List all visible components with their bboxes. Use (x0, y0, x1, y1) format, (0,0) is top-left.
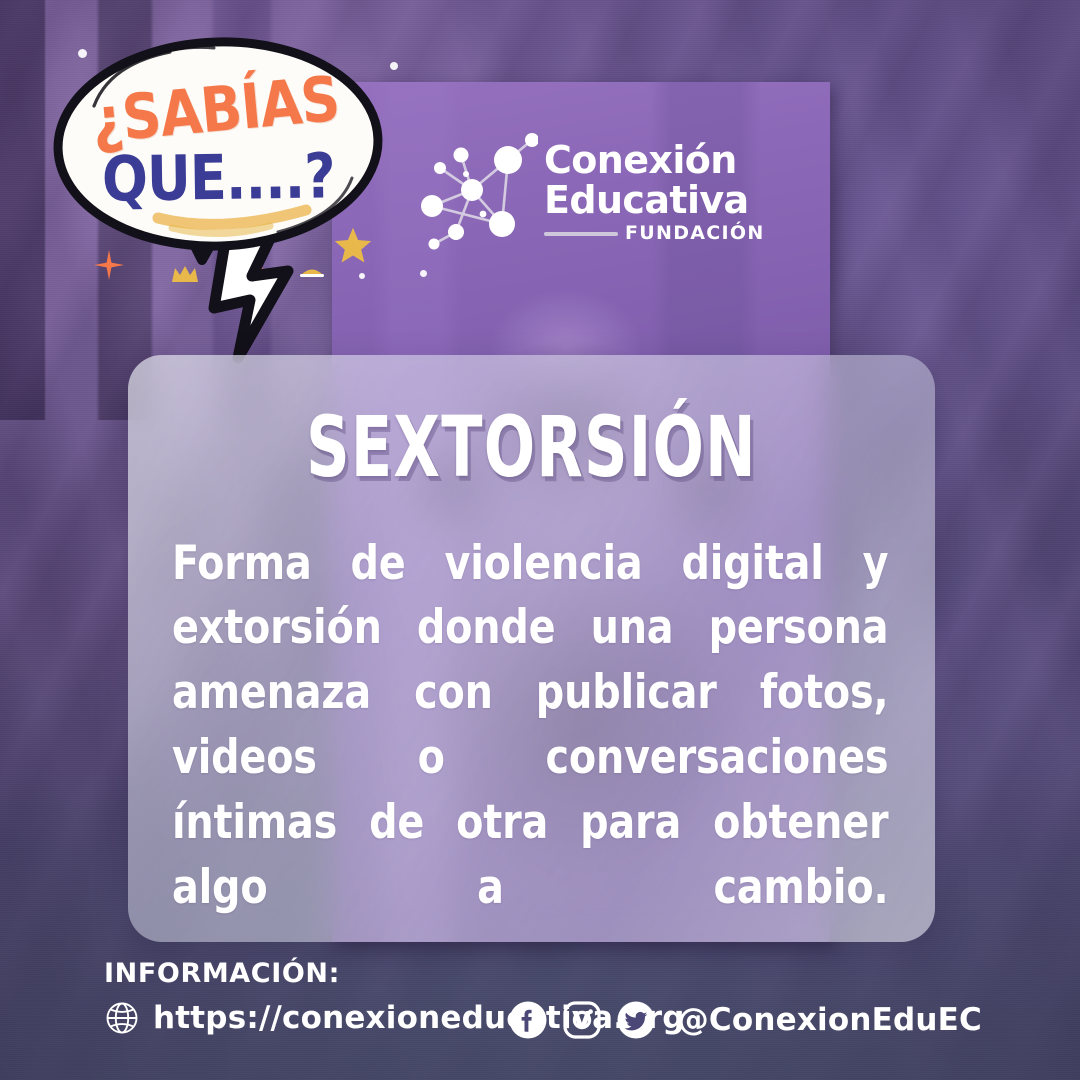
divider-rule (544, 232, 618, 236)
brand-logo: Conexión Educativa FUNDACIÓN (420, 128, 682, 256)
network-nodes-icon (420, 128, 538, 256)
content-card-body: SEXTORSIÓN Forma de violencia digital y … (128, 355, 935, 942)
brand-logo-wordmark: Conexión Educativa FUNDACIÓN (544, 141, 765, 243)
speech-bubble: ¿SABÍAS QUE....? (52, 28, 418, 368)
facebook-icon[interactable] (508, 1000, 548, 1040)
info-label: INFORMACIÓN: (104, 958, 340, 989)
definition-paragraph: Forma de violencia digital y extorsión d… (172, 532, 888, 942)
social-handle[interactable]: @ConexionEduEC (678, 1002, 982, 1038)
brand-subtitle: FUNDACIÓN (625, 224, 765, 243)
globe-icon (104, 1000, 140, 1036)
content-glass-card: SEXTORSIÓN Forma de violencia digital y … (128, 355, 935, 942)
brand-name-line-1: Conexión (544, 141, 765, 179)
brand-subtitle-row: FUNDACIÓN (544, 224, 765, 243)
social-post-canvas: ¿SABÍAS QUE....? (0, 0, 1080, 1080)
bubble-line-2: QUE....? (101, 145, 335, 210)
page-title: SEXTORSIÓN (244, 407, 819, 488)
speech-bubble-text: ¿SABÍAS QUE....? (48, 22, 387, 266)
social-links-row: @ConexionEduEC (508, 1000, 982, 1040)
brand-name-line-2: Educativa (544, 181, 765, 219)
instagram-icon[interactable] (562, 1000, 602, 1040)
twitter-icon[interactable] (616, 1000, 656, 1040)
footer: INFORMACIÓN: https://conexioneducativa.o… (0, 950, 1080, 1080)
